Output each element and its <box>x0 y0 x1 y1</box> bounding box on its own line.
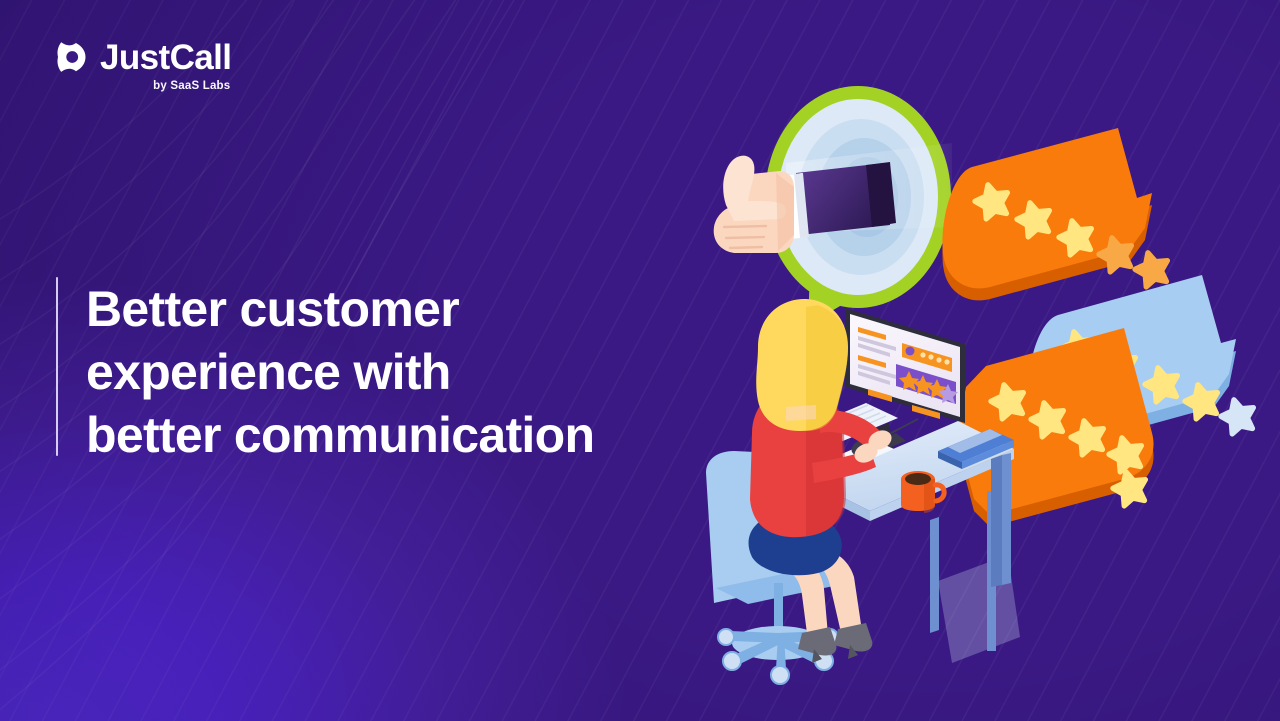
headline-block: Better customer experience with better c… <box>56 277 594 467</box>
logo-tagline: by SaaS Labs <box>153 80 230 92</box>
hero-illustration <box>690 55 1260 685</box>
page-title: Better customer experience with better c… <box>86 277 594 467</box>
rating-bubble-orange-bottom <box>952 328 1154 527</box>
star-icon-dim <box>1132 248 1173 288</box>
justcall-logo-mark-icon <box>57 39 89 75</box>
logo-row: JustCall <box>57 39 231 75</box>
star-icon-empty <box>1218 395 1259 435</box>
hero-banner: JustCall by SaaS Labs Better customer ex… <box>0 0 1280 721</box>
logo-wordmark: JustCall <box>100 40 231 75</box>
rating-bubble-orange-top <box>942 128 1172 300</box>
illustration-svg <box>690 55 1260 685</box>
brand-logo[interactable]: JustCall by SaaS Labs <box>57 39 231 92</box>
thumbs-up-speech-bubble <box>714 86 952 325</box>
headline-accent-rule <box>56 277 58 456</box>
